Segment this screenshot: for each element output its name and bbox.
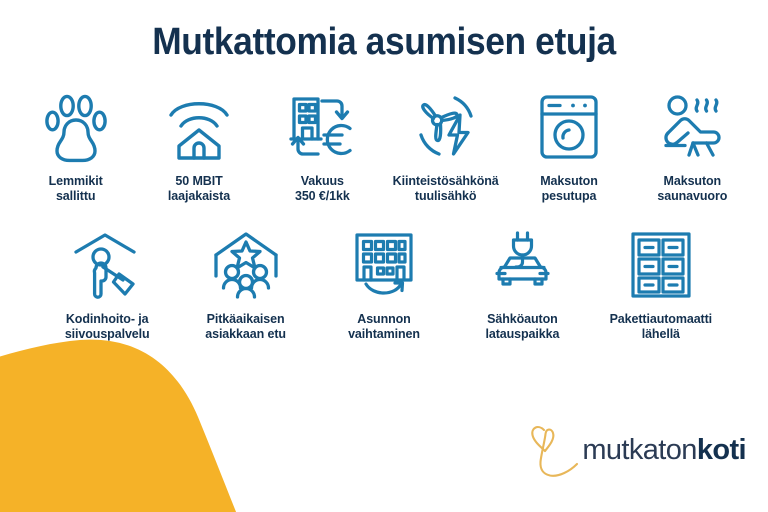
benefit-label: Asunnonvaihtaminen xyxy=(348,312,420,342)
benefits-row-2: Kodinhoito- jasiivouspalvelu xyxy=(0,226,768,342)
cleaning-person-icon xyxy=(42,226,172,304)
logo-text-bold: koti xyxy=(697,434,746,466)
sauna-person-icon xyxy=(635,88,750,166)
benefit-item-deposit[interactable]: Vakuus350 €/1kk xyxy=(261,88,384,204)
benefit-item-laundry-room[interactable]: Maksutonpesutupa xyxy=(507,88,630,204)
benefit-item-loyalty[interactable]: Pitkäaikaisenasiakkaan etu xyxy=(176,226,314,342)
logo-wordmark: mutkatonkoti xyxy=(582,435,746,465)
washing-machine-icon xyxy=(511,88,626,166)
benefit-item-pets-allowed[interactable]: Lemmikitsallittu xyxy=(14,88,137,204)
paw-print-icon xyxy=(18,88,133,166)
ev-charging-car-icon xyxy=(457,226,587,304)
brand-logo[interactable]: mutkatonkoti xyxy=(528,422,746,478)
benefit-label: Sähköautonlatauspaikka xyxy=(485,312,559,342)
infographic-canvas: Mutkattomia asumisen etuja xyxy=(0,0,768,512)
benefit-label: Kiinteistösähkönätuulisähkö xyxy=(393,174,499,204)
parcel-locker-icon xyxy=(596,226,726,304)
benefits-grid: Lemmikitsallittu 50 MBITlaajakaista xyxy=(0,88,768,342)
benefit-item-apartment-swap[interactable]: Asunnonvaihtaminen xyxy=(315,226,453,342)
benefit-label: Kodinhoito- jasiivouspalvelu xyxy=(65,312,150,342)
wifi-house-icon xyxy=(141,88,256,166)
family-star-house-icon xyxy=(180,226,310,304)
benefit-label: Pakettiautomaattilähellä xyxy=(610,312,713,342)
benefit-item-parcel-locker[interactable]: Pakettiautomaattilähellä xyxy=(592,226,730,342)
benefit-item-ev-charging[interactable]: Sähköautonlatauspaikka xyxy=(453,226,591,342)
benefit-label: Maksutonpesutupa xyxy=(540,174,598,204)
benefit-item-wind-power[interactable]: Kiinteistösähkönätuulisähkö xyxy=(384,88,507,204)
benefit-item-broadband[interactable]: 50 MBITlaajakaista xyxy=(137,88,260,204)
benefits-row-1: Lemmikitsallittu 50 MBITlaajakaista xyxy=(0,88,768,204)
orange-blob-decoration xyxy=(0,322,300,512)
page-title: Mutkattomia asumisen etuja xyxy=(27,20,741,64)
building-euro-icon xyxy=(265,88,380,166)
logo-text-light: mutkaton xyxy=(582,434,697,466)
apartment-swap-icon xyxy=(319,226,449,304)
benefit-label: Lemmikitsallittu xyxy=(49,174,103,204)
heart-swoosh-icon xyxy=(528,422,580,478)
benefit-label: Pitkäaikaisenasiakkaan etu xyxy=(205,312,286,342)
wind-turbine-bolt-icon xyxy=(388,88,503,166)
benefit-label: Maksutonsaunavuoro xyxy=(657,174,727,204)
benefit-label: Vakuus350 €/1kk xyxy=(295,174,350,204)
benefit-label: 50 MBITlaajakaista xyxy=(168,174,230,204)
benefit-item-sauna[interactable]: Maksutonsaunavuoro xyxy=(631,88,754,204)
benefit-item-cleaning-service[interactable]: Kodinhoito- jasiivouspalvelu xyxy=(38,226,176,342)
